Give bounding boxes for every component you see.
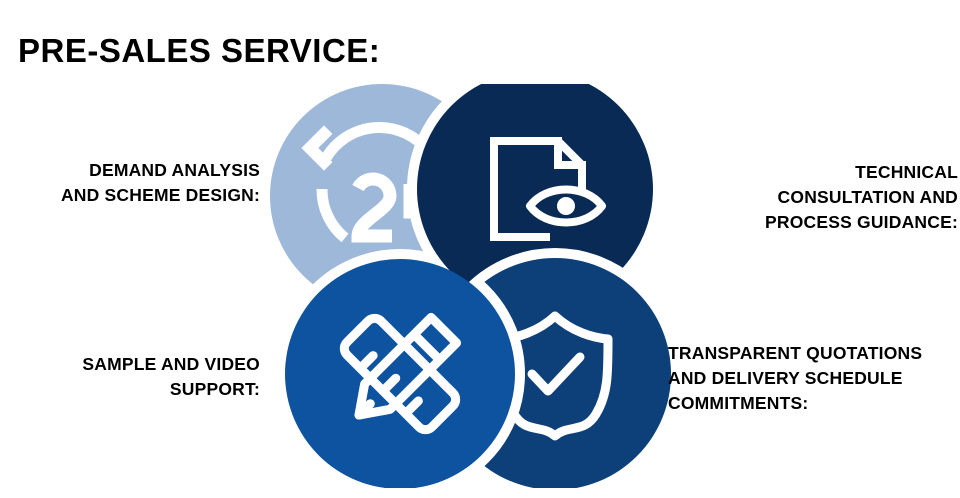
page-title: PRE-SALES SERVICE: [18, 32, 380, 70]
label-line: COMMITMENTS: [668, 391, 960, 416]
label-line: TECHNICAL [710, 160, 958, 185]
label-line: TRANSPARENT QUOTATIONS [668, 341, 960, 366]
label-line: CONSULTATION AND [710, 185, 958, 210]
label-line: PROCESS GUIDANCE: [710, 210, 958, 235]
label-line: SAMPLE AND VIDEO [10, 352, 260, 377]
circle-cluster-diagram [270, 84, 672, 488]
label-line: DEMAND ANALYSIS [10, 158, 260, 183]
label-sample-video-support: SAMPLE AND VIDEO SUPPORT: [10, 352, 260, 402]
segment-circle-bright-blue [285, 259, 515, 488]
label-line: SUPPORT: [10, 377, 260, 402]
segment-sample-video-support[interactable] [285, 259, 515, 488]
label-technical-consultation: TECHNICAL CONSULTATION AND PROCESS GUIDA… [710, 160, 958, 235]
label-line: AND DELIVERY SCHEDULE [668, 366, 960, 391]
label-line: AND SCHEME DESIGN: [10, 183, 260, 208]
label-transparent-quotations: TRANSPARENT QUOTATIONS AND DELIVERY SCHE… [668, 341, 960, 416]
label-demand-analysis: DEMAND ANALYSIS AND SCHEME DESIGN: [10, 158, 260, 208]
